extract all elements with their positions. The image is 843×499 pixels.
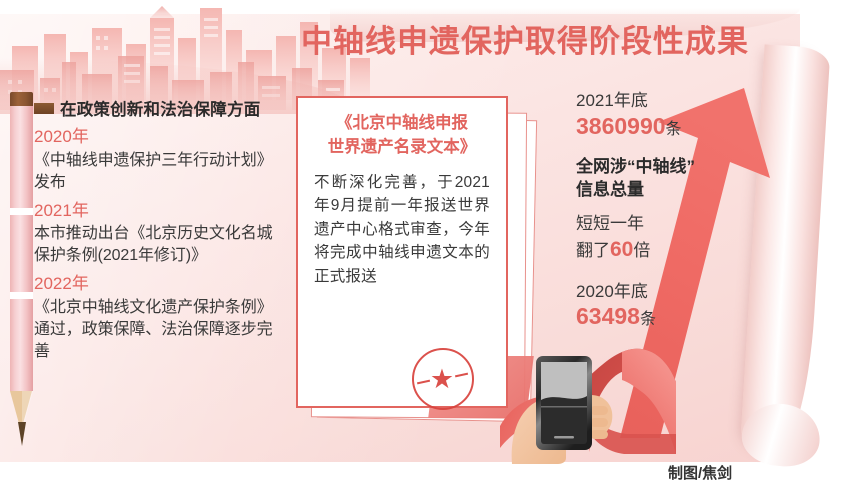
stat-caption-line-2: 信息总量 <box>576 179 766 201</box>
card-body-text: 不断深化完善，于2021年9月提前一年报送世界遗产中心格式审查，今年将完成中轴线… <box>314 171 490 289</box>
timeline-year: 2020年 <box>34 124 284 150</box>
seal-star-glyph: ★ <box>429 366 455 392</box>
star-seal-icon: ★ <box>412 348 474 410</box>
growth-value: 60 <box>610 238 633 261</box>
infographic-canvas: 中轴线申遗保护取得阶段性成果 在政策创新和法治保障方面 2020年 《中轴线申遗… <box>0 0 843 499</box>
pencil-body <box>10 106 33 391</box>
timeline-year: 2022年 <box>34 271 284 297</box>
stat-top-value: 3860990条 <box>576 113 766 141</box>
timeline-text: 《北京中轴线文化遗产保护条例》通过，政策保障、法治保障逐步完善 <box>34 297 284 363</box>
stat-caption-line-1: 全网涉“中轴线” <box>576 156 766 178</box>
stat-bottom-year-label: 2020年底 <box>576 281 766 304</box>
credit-label: 制图/焦剑 <box>668 462 732 483</box>
timeline-text: 《中轴线申遗保护三年行动计划》发布 <box>34 150 284 194</box>
timeline-year: 2021年 <box>34 198 284 224</box>
growth-prefix: 翻了 <box>576 241 610 260</box>
pencil-band-1 <box>10 208 33 215</box>
page-title: 中轴线申遗保护取得阶段性成果 <box>290 16 760 61</box>
growth-suffix: 倍 <box>633 241 650 260</box>
seal-dash-right <box>455 373 468 377</box>
pencil-eraser <box>10 92 33 106</box>
pencil-icon <box>10 92 33 447</box>
policy-heading-label: 在政策创新和法治保障方面 <box>60 96 260 120</box>
spacer <box>576 140 766 156</box>
bullet-marker-icon <box>34 103 54 114</box>
growth-line-1: 短短一年 <box>576 212 766 235</box>
card-title-line-1: 《北京中轴线申报 <box>314 112 490 136</box>
policy-heading: 在政策创新和法治保障方面 <box>34 96 284 120</box>
timeline-text: 本市推动出台《北京历史文化名城保护条例(2021年修订)》 <box>34 223 284 267</box>
card-title-line-2: 世界遗产名录文本》 <box>314 136 490 160</box>
timeline-entry: 2020年 《中轴线申遗保护三年行动计划》发布 <box>34 124 284 194</box>
card-title: 《北京中轴线申报 世界遗产名录文本》 <box>314 112 490 160</box>
growth-line-2: 翻了60倍 <box>576 236 766 265</box>
spacer <box>576 265 766 281</box>
policy-timeline-column: 在政策创新和法治保障方面 2020年 《中轴线申遗保护三年行动计划》发布 202… <box>34 96 284 363</box>
stat-top-unit: 条 <box>666 121 682 138</box>
nomination-document-card: 《北京中轴线申报 世界遗产名录文本》 不断深化完善，于2021年9月提前一年报送… <box>296 96 508 408</box>
pencil-tip <box>18 422 26 446</box>
timeline-entry: 2021年 本市推动出台《北京历史文化名城保护条例(2021年修订)》 <box>34 198 284 268</box>
stat-bottom-number: 63498 <box>576 303 640 329</box>
hand-holding-phone-icon <box>508 352 628 467</box>
stat-bottom-unit: 条 <box>640 311 656 328</box>
timeline-entry: 2022年 《北京中轴线文化遗产保护条例》通过，政策保障、法治保障逐步完善 <box>34 271 284 363</box>
pencil-band-2 <box>10 292 33 299</box>
statistics-column: 2021年底 3860990条 全网涉“中轴线” 信息总量 短短一年 翻了60倍… <box>576 90 766 331</box>
stat-top-year-label: 2021年底 <box>576 90 766 113</box>
stat-top-number: 3860990 <box>576 113 666 139</box>
spacer <box>576 201 766 212</box>
stat-bottom-value: 63498条 <box>576 303 766 331</box>
